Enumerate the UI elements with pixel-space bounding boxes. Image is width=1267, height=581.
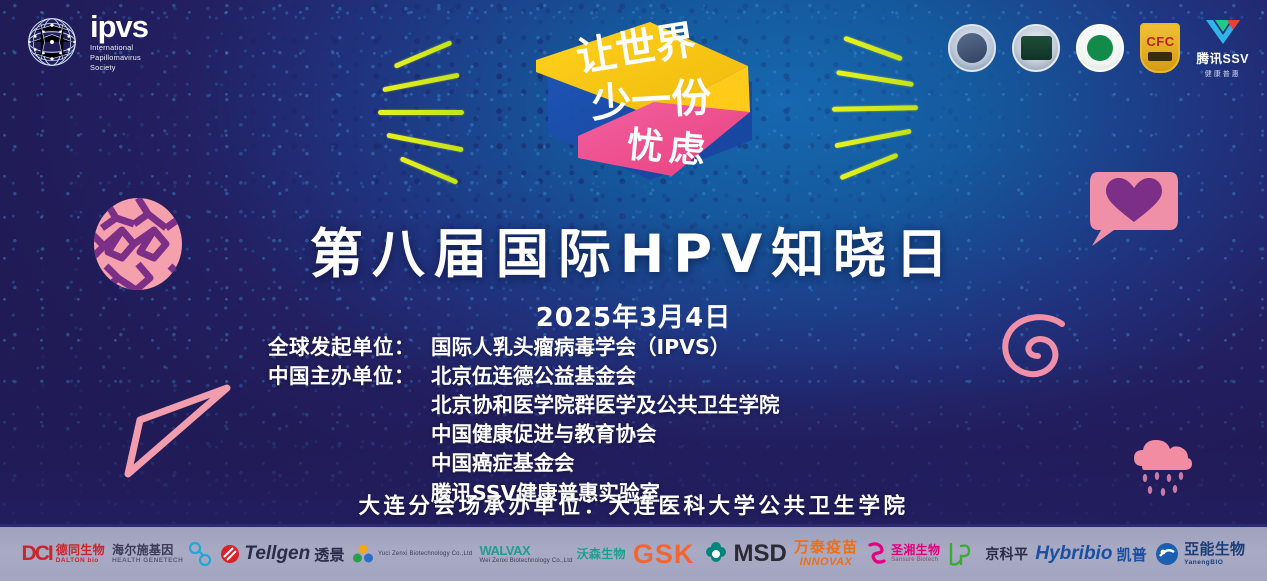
tellgen-cn: 透景: [314, 544, 345, 565]
yaneng-cn: 亞能生物: [1184, 542, 1245, 559]
sponsor-wei-zhen-bio: Yuci Zenxi Biotechnology Co.,Ltd: [352, 543, 472, 565]
ipvs-wordmark: ipvs: [90, 12, 148, 41]
ipvs-sub-line-1: International: [90, 43, 148, 53]
dalton-en: DALTON bio: [56, 557, 105, 564]
global-organizer-value: 国际人乳头瘤病毒学会（IPVS）: [431, 333, 730, 362]
building-emblem-icon: [1012, 24, 1060, 72]
wei-zhen-icon: [352, 543, 374, 565]
global-organizer-label: 全球发起单位：: [268, 333, 431, 362]
slogan-3d-block: 让世界 少一份 忧虑: [500, 8, 800, 198]
tellgen-icon: [220, 544, 240, 564]
hybribio-cn: 凯普: [1116, 544, 1147, 565]
portrait-medallion-icon: [948, 24, 996, 72]
tencent-ssv-sublabel: 健康普惠: [1205, 69, 1241, 79]
genetech-icon: [187, 540, 213, 568]
walvax-cn: 沃森生物: [577, 545, 626, 562]
ipvs-sub-line-3: Society: [90, 63, 148, 73]
tencent-ssv-label: 腾讯SSV: [1196, 48, 1249, 67]
sponsor-walvax: WALVAX Wei Zenxi Biotechnology Co.,Ltd 沃…: [479, 544, 625, 565]
sponsor-bar: DCI 德同生物 DALTON bio 海尔施基因 HEALTH GENETEC…: [0, 524, 1267, 581]
tellgen-en: Tellgen: [244, 543, 310, 565]
gsk-en: GSK: [633, 539, 695, 570]
sponsor-sansure: 圣湘生物 Sansure Biotech: [865, 541, 940, 567]
dalton-mark: DCI: [22, 542, 52, 566]
sponsor-innovax: 万泰疫苗 INNOVAX: [794, 540, 858, 569]
innovax-cn: 万泰疫苗: [794, 540, 858, 557]
msd-en: MSD: [734, 540, 787, 568]
slogan-line-3: 忧虑: [625, 124, 712, 172]
walvax-note: Wei Zenxi Biotechnology Co.,Ltd: [479, 558, 572, 565]
ipvs-logo: ipvs International Papillomavirus Societ…: [24, 12, 148, 73]
sponsor-gsk: GSK: [633, 539, 695, 570]
china-organizer-value-3: 中国健康促进与教育协会: [431, 420, 780, 449]
sponsor-tellgen: Tellgen 透景: [220, 543, 344, 565]
sponsor-hybribio: Hybribio 凯普: [1035, 543, 1147, 565]
page-title: 第八届国际HPV知晓日: [0, 212, 1267, 288]
china-organizer-label: 中国主办单位：: [268, 362, 431, 391]
slogan-line-2: 少一份: [590, 75, 712, 127]
hybribio-en: Hybribio: [1035, 543, 1112, 565]
event-date: 2025年3月4日: [0, 297, 1267, 334]
china-organizer-value-4: 中国癌症基金会: [431, 449, 780, 478]
sponsor-msd: MSD: [702, 540, 787, 568]
green-health-emblem-icon: [1076, 24, 1124, 72]
ibp-icon: [947, 540, 981, 568]
innovax-en: INNOVAX: [800, 556, 853, 568]
poster: ipvs International Papillomavirus Societ…: [0, 0, 1267, 581]
sponsor-dalton: DCI 德同生物 DALTON bio: [22, 542, 105, 566]
walvax-en: WALVAX: [479, 544, 572, 558]
msd-icon: [702, 540, 730, 568]
china-organizer-value-1: 北京伍连德公益基金会: [431, 362, 636, 391]
cfc-label: CFC: [1146, 34, 1174, 49]
sponsor-ibp: 京科平: [947, 540, 1028, 568]
global-organizer-row: 全球发起单位： 国际人乳头瘤病毒学会（IPVS）: [268, 333, 780, 362]
partner-logo-strip: CFC 腾讯SSV 健康普惠: [948, 16, 1249, 79]
ipvs-sub-line-2: Papillomavirus: [90, 53, 148, 63]
china-organizer-value-2: 北京协和医学院群医学及公共卫生学院: [431, 391, 780, 420]
dalton-cn: 德同生物: [56, 544, 105, 557]
yaneng-icon: [1154, 541, 1180, 567]
sponsor-health-genetech: 海尔施基因 HEALTH GENETECH: [112, 540, 213, 568]
ibp-cn: 京科平: [985, 544, 1028, 564]
tencent-ssv-icon: [1203, 16, 1243, 46]
china-organizer-row: 中国主办单位： 北京伍连德公益基金会: [268, 362, 780, 391]
organizers-block: 全球发起单位： 国际人乳头瘤病毒学会（IPVS） 中国主办单位： 北京伍连德公益…: [268, 333, 780, 508]
genetech-cn: 海尔施基因: [112, 544, 183, 557]
venue-host-line: 大连分会场承办单位：大连医科大学公共卫生学院: [0, 489, 1267, 520]
slogan-banner: 让世界 少一份 忧虑: [500, 8, 800, 198]
sansure-icon: [865, 541, 887, 567]
sansure-en: Sansure Biotech: [891, 557, 940, 564]
ipvs-globe-icon: [24, 14, 80, 70]
tencent-ssv-logo: 腾讯SSV 健康普惠: [1196, 16, 1249, 79]
genetech-en: HEALTH GENETECH: [112, 557, 183, 564]
cfc-shield-icon: CFC: [1140, 23, 1180, 73]
wei-zhen-en: Yuci Zenxi Biotechnology Co.,Ltd: [378, 551, 472, 558]
sansure-cn: 圣湘生物: [891, 544, 940, 557]
yaneng-en: YanengBIO: [1184, 559, 1245, 566]
sponsor-yaneng: 亞能生物 YanengBIO: [1154, 541, 1245, 567]
